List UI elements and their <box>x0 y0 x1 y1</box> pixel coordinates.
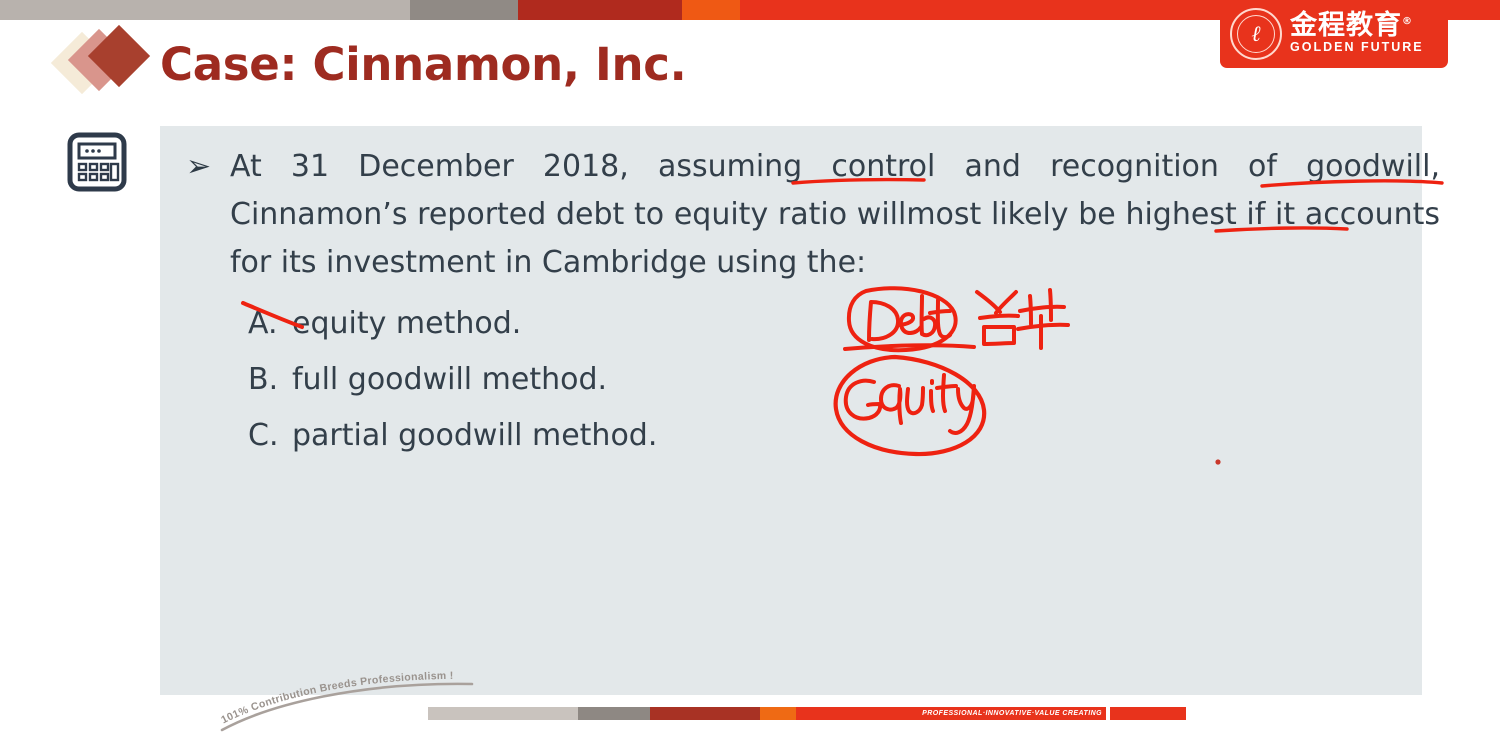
q-seg-3-goodwill: goodwill, <box>1306 149 1440 184</box>
option-b-text: full goodwill method. <box>292 352 657 408</box>
option-b-letter: B. <box>248 352 292 408</box>
answer-option-a[interactable]: A. equity method. <box>248 296 657 352</box>
slide-canvas: ℓ 金程教育® GOLDEN FUTURE Case: Cinnamon, In… <box>0 0 1500 750</box>
footer-tagline: 101% Contribution Breeds Professionalism… <box>200 660 530 735</box>
footer-color-bar: PROFESSIONAL·INNOVATIVE·VALUE CREATING <box>428 707 1186 720</box>
option-c-letter: C. <box>248 408 292 464</box>
logo-seal-icon: ℓ <box>1230 8 1282 60</box>
footbar-segment-3 <box>650 707 760 720</box>
logo-text-block: 金程教育® GOLDEN FUTURE <box>1290 12 1424 56</box>
question-block: ➢ At 31 December 2018, assuming control … <box>178 143 1440 287</box>
footbar-tag-segment: PROFESSIONAL·INNOVATIVE·VALUE CREATING <box>796 707 1106 720</box>
q-seg-0: At 31 December 2018, assuming <box>230 149 831 184</box>
topbar-segment-1 <box>0 0 410 20</box>
footer-tagline-text: 101% Contribution Breeds Professionalism… <box>219 670 453 726</box>
page-title: Case: Cinnamon, Inc. <box>160 38 686 91</box>
bullet-arrow-icon: ➢ <box>178 143 230 191</box>
svg-text:101% Contribution Breeds Profe: 101% Contribution Breeds Professionalism… <box>219 670 453 726</box>
diamond-decoration-icon <box>58 30 166 98</box>
option-a-letter: A. <box>248 296 292 352</box>
calculator-icon <box>66 131 128 193</box>
logo-name-en: GOLDEN FUTURE <box>1290 40 1424 56</box>
brand-logo: ℓ 金程教育® GOLDEN FUTURE <box>1220 0 1448 68</box>
footbar-segment-6 <box>1110 707 1186 720</box>
answer-options-list: A. equity method. B. full goodwill metho… <box>248 296 657 464</box>
footbar-segment-2 <box>578 707 650 720</box>
footer-bar-tagline: PROFESSIONAL·INNOVATIVE·VALUE CREATING <box>922 707 1102 720</box>
logo-name-cn: 金程教育® <box>1290 12 1424 40</box>
question-text: At 31 December 2018, assuming control an… <box>230 143 1440 287</box>
registered-mark: ® <box>1402 16 1413 27</box>
topbar-segment-3 <box>518 0 682 20</box>
q-seg-4: Cinnamon’s reported debt to equity ratio… <box>230 197 1125 232</box>
logo-seal-glyph: ℓ <box>1251 23 1260 45</box>
option-a-text: equity method. <box>292 296 657 352</box>
topbar-segment-2 <box>410 0 518 20</box>
footbar-segment-1 <box>428 707 578 720</box>
q-seg-2: and recognition of <box>935 149 1306 184</box>
answer-option-c[interactable]: C. partial goodwill method. <box>248 408 657 464</box>
answer-option-b[interactable]: B. full goodwill method. <box>248 352 657 408</box>
option-c-text: partial goodwill method. <box>292 408 657 464</box>
q-seg-5-highest: highest <box>1125 197 1236 232</box>
topbar-segment-4 <box>682 0 740 20</box>
footbar-segment-4 <box>760 707 796 720</box>
q-seg-1-control: control <box>831 149 935 184</box>
